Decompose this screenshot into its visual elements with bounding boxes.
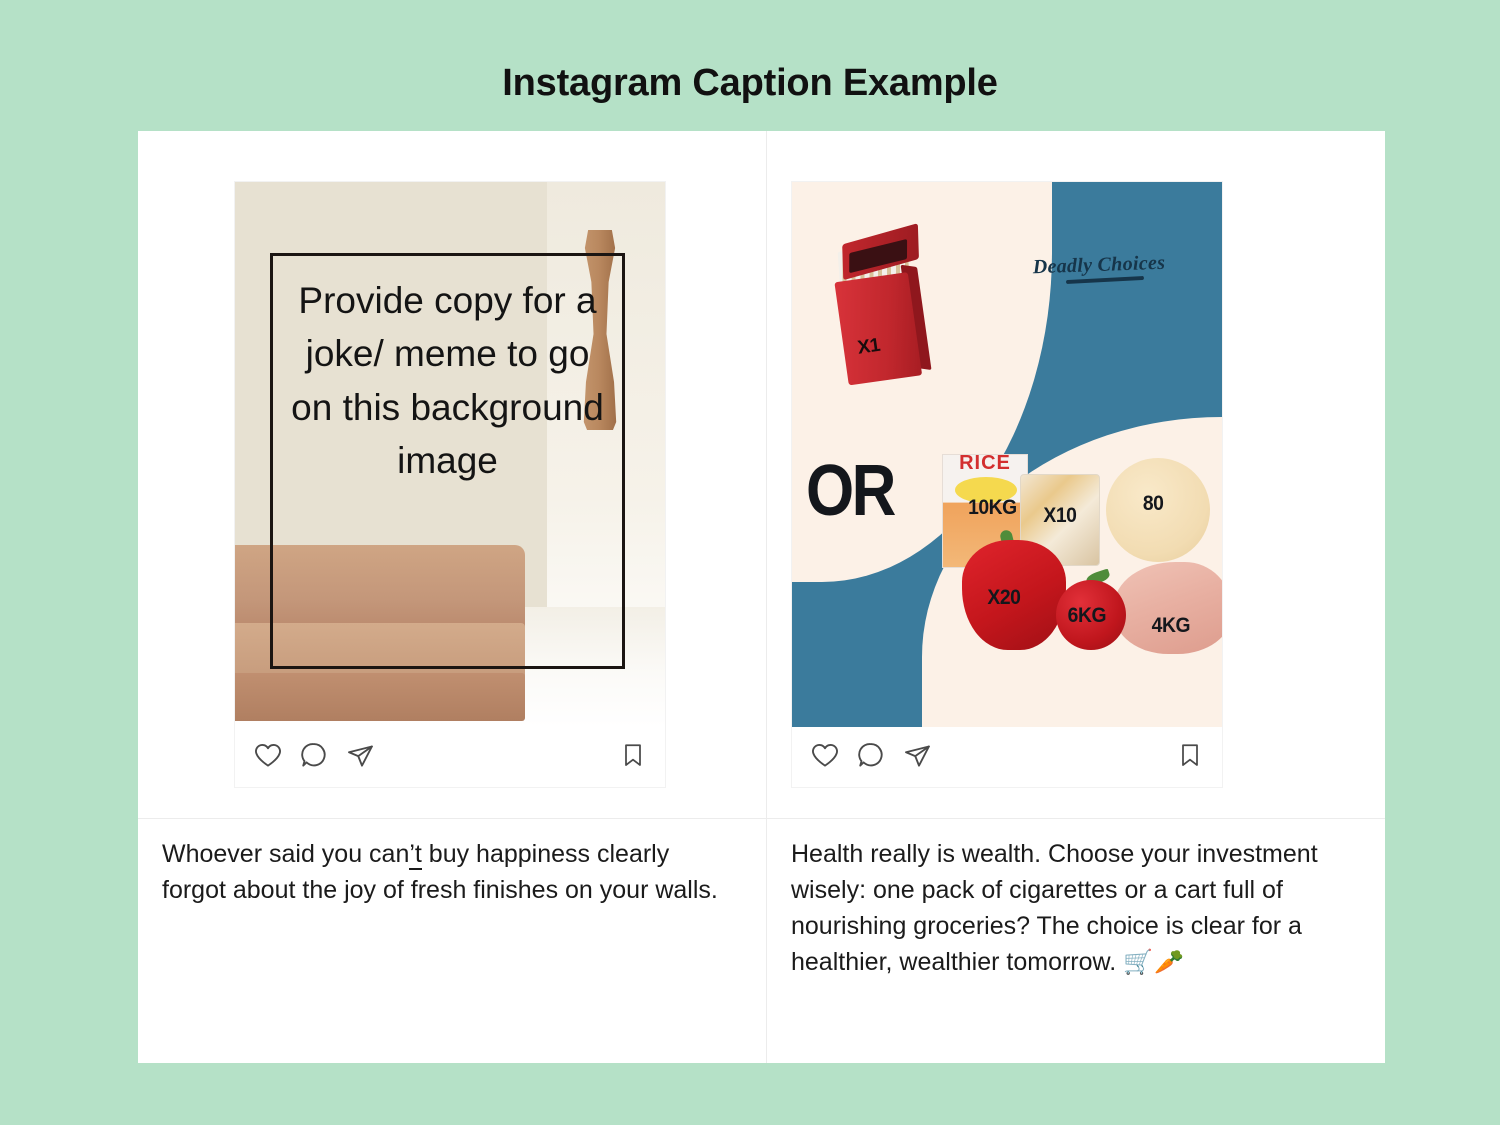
sofa-base: [235, 673, 525, 721]
bookmark-icon[interactable]: [1176, 741, 1204, 774]
post-media-right[interactable]: Deadly Choices X1 OR RICE: [792, 182, 1222, 727]
post-actions-primary-left: [253, 740, 375, 775]
instagram-post-left: Provide copy for a joke/ meme to go on t…: [235, 182, 665, 787]
caption-left-part1: Whoever said you can: [162, 840, 409, 868]
grocery-group: RICE 10KG X10 80 X20 6KG 4KG: [938, 444, 1222, 714]
or-text: OR: [806, 450, 894, 532]
post-actions-left: [235, 727, 665, 787]
cigarette-pack-body: [834, 272, 922, 385]
cigarette-pack-icon: X1: [824, 224, 940, 386]
heart-icon[interactable]: [253, 740, 283, 775]
content-card: Provide copy for a joke/ meme to go on t…: [138, 131, 1385, 1063]
ham-icon: [1114, 562, 1222, 654]
comment-bubble-icon[interactable]: [856, 740, 886, 775]
post-actions-right: [792, 727, 1222, 787]
caption-right-text: Health really is wealth. Choose your inv…: [791, 840, 1318, 976]
apple-quantity-label: 6KG: [1068, 604, 1106, 628]
cigarette-quantity-label: X1: [856, 335, 881, 360]
bookmark-icon[interactable]: [619, 741, 647, 774]
post-caption-right: Health really is wealth. Choose your inv…: [791, 836, 1371, 981]
rice-brand-word: RICE: [942, 452, 1028, 475]
caption-right-emoji: 🛒🥕: [1123, 949, 1185, 976]
pasta-quantity-label: X10: [1043, 504, 1076, 528]
page-title: Instagram Caption Example: [0, 62, 1500, 105]
post-column-left: Provide copy for a joke/ meme to go on t…: [138, 131, 766, 1063]
capsicum-quantity-label: X20: [987, 586, 1020, 610]
post-actions-secondary-left: [619, 741, 647, 774]
post-media-left[interactable]: Provide copy for a joke/ meme to go on t…: [235, 182, 665, 727]
rice-quantity-label: 10KG: [968, 496, 1017, 520]
caption-divider-left: [138, 818, 766, 819]
heart-icon[interactable]: [810, 740, 840, 775]
bread-quantity-label: 80: [1143, 492, 1164, 516]
caption-left-flagged-word: ’t: [409, 840, 422, 870]
post-actions-primary-right: [810, 740, 932, 775]
post-actions-secondary-right: [1176, 741, 1204, 774]
paper-plane-icon[interactable]: [902, 740, 932, 775]
caption-divider-right: [767, 818, 1385, 819]
comment-bubble-icon[interactable]: [299, 740, 329, 775]
paper-plane-icon[interactable]: [345, 740, 375, 775]
instagram-post-right: Deadly Choices X1 OR RICE: [792, 182, 1222, 787]
post-column-right: Deadly Choices X1 OR RICE: [766, 131, 1385, 1063]
media-overlay-text: Provide copy for a joke/ meme to go on t…: [280, 274, 615, 487]
post-caption-left: Whoever said you can’t buy happiness cle…: [162, 836, 722, 908]
ham-quantity-label: 4KG: [1152, 614, 1190, 638]
